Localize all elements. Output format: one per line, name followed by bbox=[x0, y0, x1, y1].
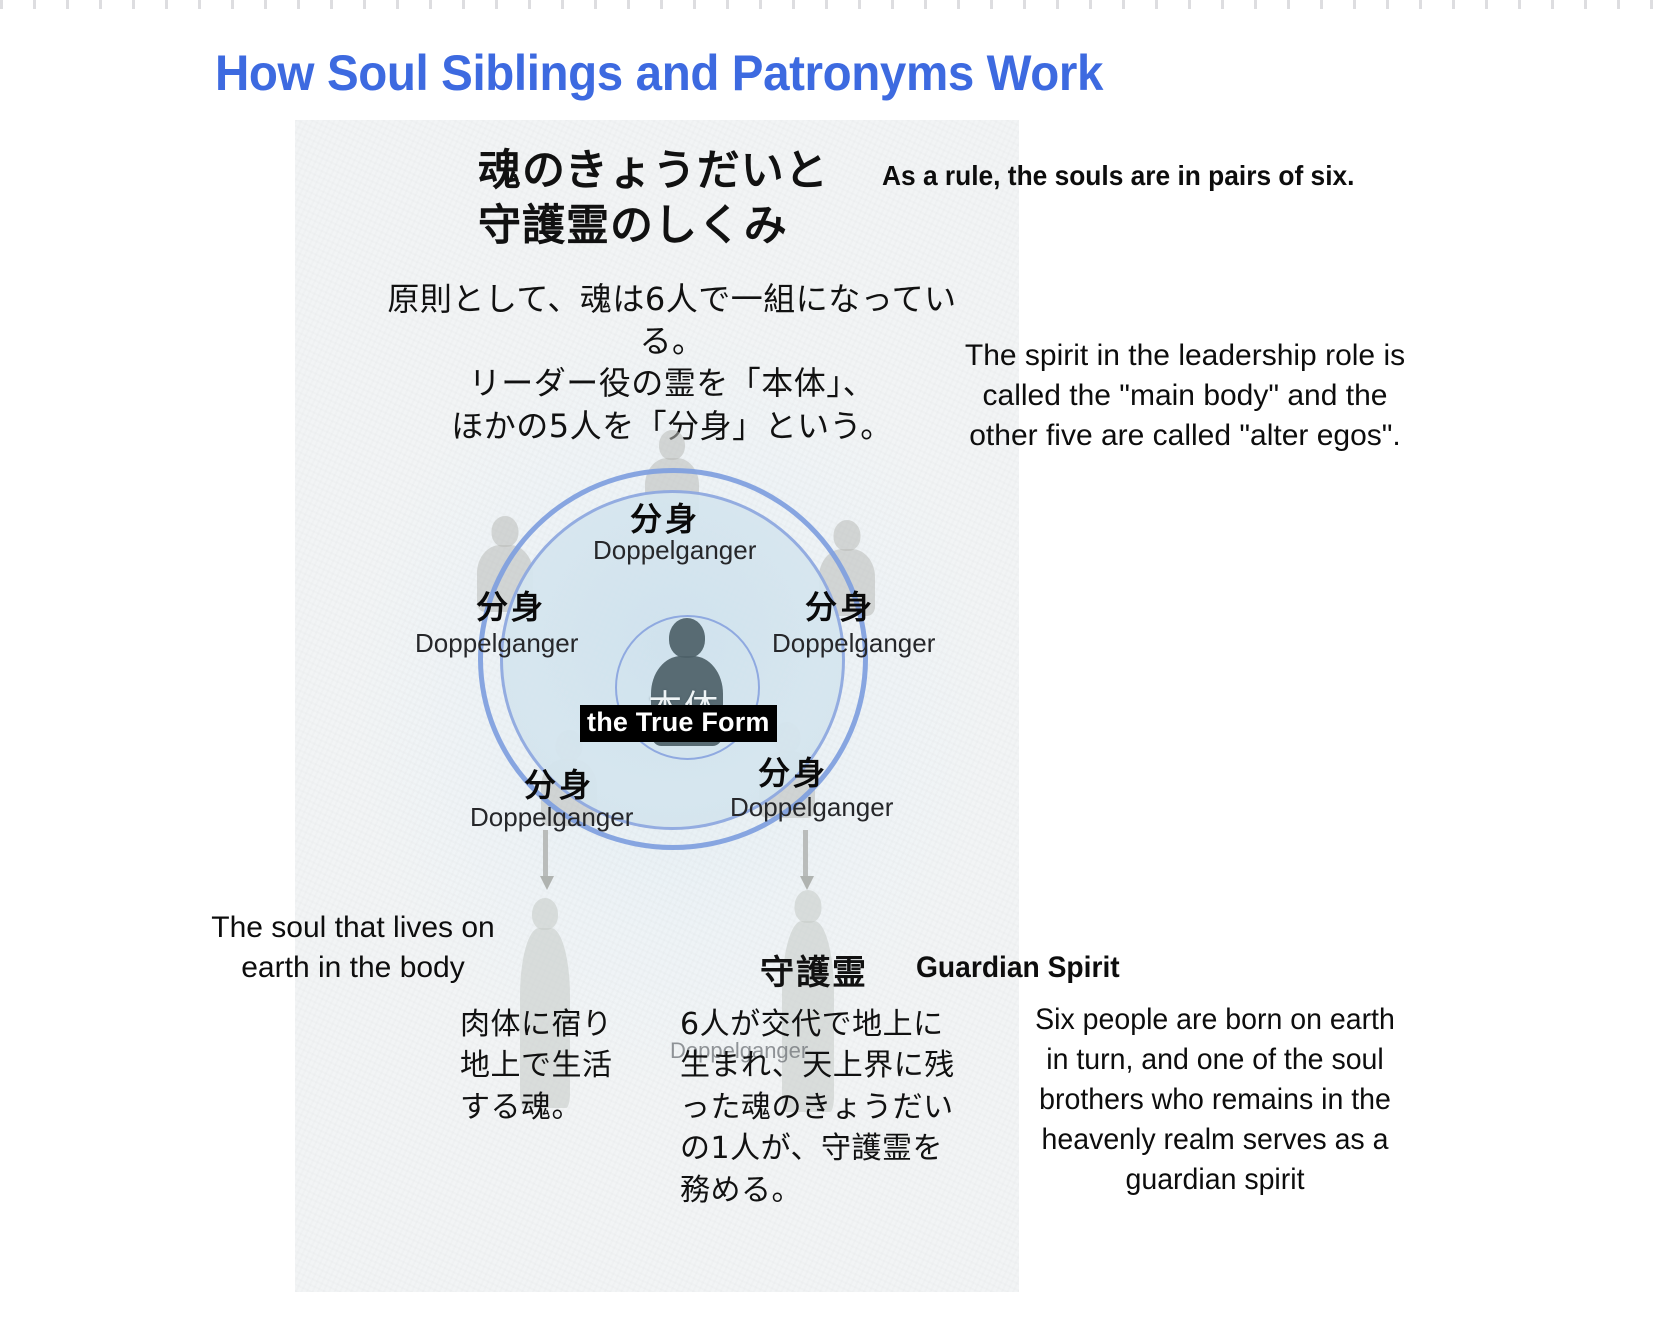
doppelganger-en-top: Doppelganger bbox=[593, 535, 756, 566]
rule-note-en: As a rule, the souls are in pairs of six… bbox=[882, 158, 1354, 194]
guardian-spirit-note-en: Six people are born on earth in turn, an… bbox=[1011, 1000, 1420, 1199]
earth-body-note-en: The soul that lives on earth in the body bbox=[198, 908, 508, 988]
doppelganger-en-bottom-right: Doppelganger bbox=[730, 792, 893, 823]
doppelganger-en-left: Doppelganger bbox=[415, 628, 578, 659]
page-title: How Soul Siblings and Patronyms Work bbox=[215, 44, 1103, 102]
doppelganger-en-bottom-left: Doppelganger bbox=[470, 802, 633, 833]
doppelganger-en-right: Doppelganger bbox=[772, 628, 935, 659]
top-ruler-ticks bbox=[0, 0, 1663, 9]
japanese-heading: 魂のきょうだいと 守護霊のしくみ bbox=[478, 144, 829, 254]
true-form-en-label: the True Form bbox=[580, 705, 777, 742]
doppelganger-jp-bottom-left: 分身 bbox=[524, 760, 594, 806]
doppelganger-jp-top: 分身 bbox=[630, 494, 700, 540]
doppelganger-jp-right: 分身 bbox=[805, 582, 875, 628]
guardian-spirit-jp-label: 守護霊 bbox=[760, 945, 868, 994]
arrow-down-left bbox=[540, 830, 551, 892]
guardian-spirit-note-jp: 6人が交代で地上に 生まれ、天上界に残 った魂のきょうだい の1人が、守護霊を … bbox=[680, 1004, 955, 1211]
leader-role-note-en: The spirit in the leadership role is cal… bbox=[930, 336, 1440, 456]
guardian-spirit-en-label: Guardian Spirit bbox=[916, 948, 1120, 987]
rule-note-jp: 原則として、魂は6人で一組になっている。 リーダー役の霊を「本体」、 ほかの5人… bbox=[372, 278, 972, 447]
doppelganger-jp-bottom-right: 分身 bbox=[758, 748, 828, 794]
doppelganger-jp-left: 分身 bbox=[476, 582, 546, 628]
earth-body-note-jp: 肉体に宿り 地上で生活 する魂。 bbox=[460, 1004, 613, 1128]
soul-group-diagram: 分身 Doppelganger 分身 Doppelganger 分身 Doppe… bbox=[400, 430, 960, 850]
arrow-down-right bbox=[800, 830, 811, 892]
slide-canvas: How Soul Siblings and Patronyms Work 魂のき… bbox=[0, 0, 1663, 1328]
